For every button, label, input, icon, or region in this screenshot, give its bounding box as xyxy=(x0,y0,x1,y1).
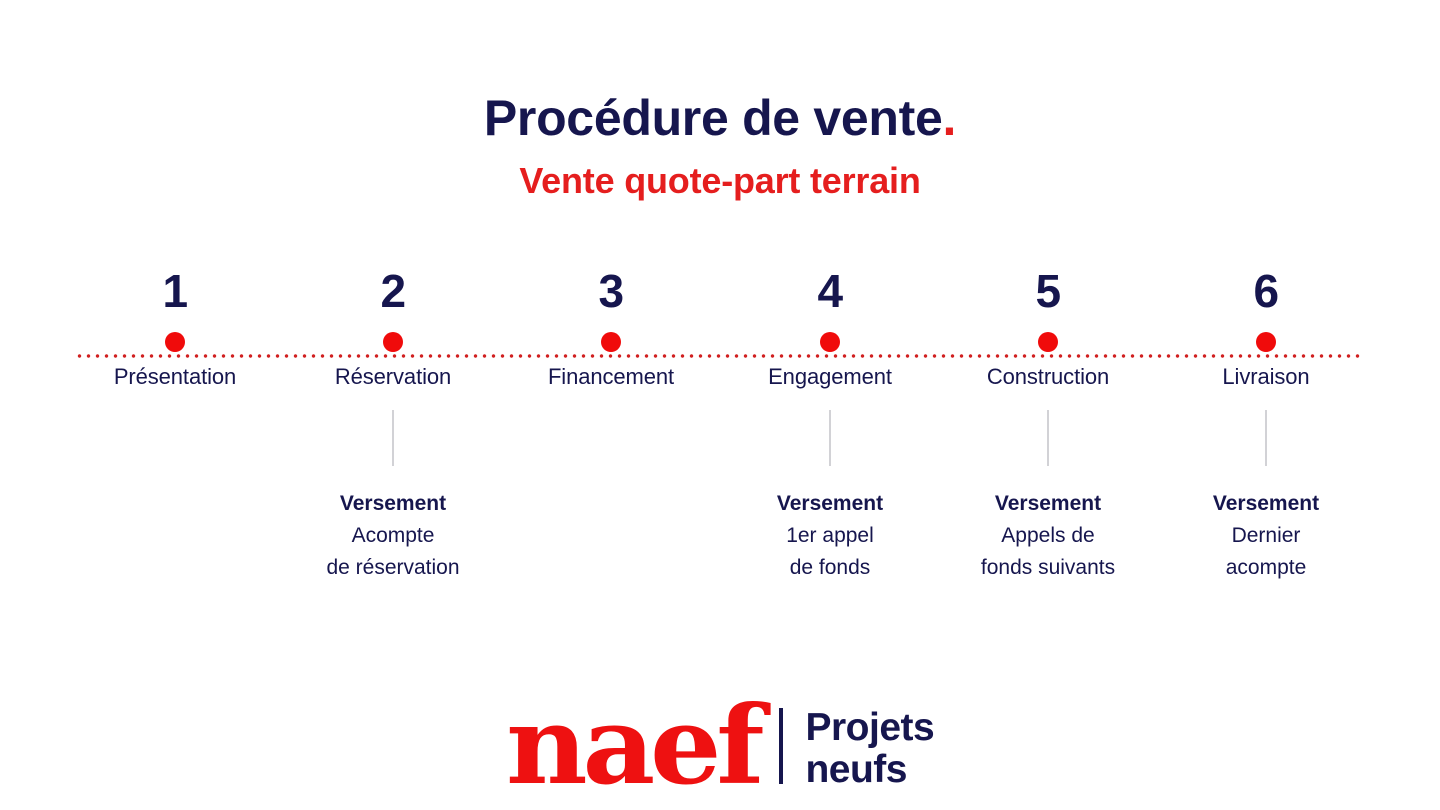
title-block: Procédure de vente. Vente quote-part ter… xyxy=(0,90,1440,201)
step-dot-wrap xyxy=(501,320,721,354)
payment-title: Versement xyxy=(720,488,940,520)
payment-title: Versement xyxy=(283,488,503,520)
step-number: 6 xyxy=(1156,268,1376,320)
payment-line-2: de réservation xyxy=(283,552,503,584)
payment-line-1: Acompte xyxy=(283,520,503,552)
page-title-text: Procédure de vente xyxy=(484,90,943,146)
step-number: 3 xyxy=(501,268,721,320)
step-connector-line xyxy=(1047,410,1049,466)
logo-divider xyxy=(779,708,783,784)
payment-line-2: de fonds xyxy=(720,552,940,584)
step-connector-line xyxy=(392,410,394,466)
step-dot-wrap xyxy=(283,320,503,354)
step-payment-block: Versement 1er appel de fonds xyxy=(720,488,940,584)
payment-title: Versement xyxy=(1156,488,1376,520)
timeline: 1 Présentation 2 Réservation Versement A… xyxy=(0,268,1440,608)
timeline-step-5[interactable]: 5 Construction Versement Appels de fonds… xyxy=(938,268,1158,584)
step-dot-wrap xyxy=(65,320,285,354)
step-connector-line xyxy=(829,410,831,466)
slide-canvas: Procédure de vente. Vente quote-part ter… xyxy=(0,0,1440,810)
step-label: Présentation xyxy=(65,364,285,390)
step-label: Construction xyxy=(938,364,1158,390)
page-title: Procédure de vente. xyxy=(0,90,1440,146)
timeline-step-1[interactable]: 1 Présentation xyxy=(65,268,285,488)
logo-tagline-line-2: neufs xyxy=(805,749,934,790)
page-subtitle: Vente quote-part terrain xyxy=(0,160,1440,201)
payment-line-1: Dernier xyxy=(1156,520,1376,552)
step-label: Financement xyxy=(501,364,721,390)
step-label: Réservation xyxy=(283,364,503,390)
step-dot-wrap xyxy=(720,320,940,354)
step-payment-block: Versement Appels de fonds suivants xyxy=(938,488,1158,584)
step-payment-block: Versement Acompte de réservation xyxy=(283,488,503,584)
payment-line-2: acompte xyxy=(1156,552,1376,584)
step-connector-line xyxy=(1265,410,1267,466)
logo-tagline: Projets neufs xyxy=(805,707,934,796)
step-dot-wrap xyxy=(938,320,1158,354)
payment-line-1: 1er appel xyxy=(720,520,940,552)
brand-logo: naef Projets neufs xyxy=(0,697,1440,796)
step-number: 4 xyxy=(720,268,940,320)
step-dot-icon xyxy=(1038,332,1058,352)
step-dot-icon xyxy=(601,332,621,352)
step-payment-block: Versement Dernier acompte xyxy=(1156,488,1376,584)
logo-tagline-line-1: Projets xyxy=(805,707,934,748)
naef-wordmark: naef xyxy=(506,697,759,796)
payment-title: Versement xyxy=(938,488,1158,520)
payment-line-2: fonds suivants xyxy=(938,552,1158,584)
step-dot-icon xyxy=(1256,332,1276,352)
step-dot-wrap xyxy=(1156,320,1376,354)
timeline-step-3[interactable]: 3 Financement xyxy=(501,268,721,488)
timeline-step-4[interactable]: 4 Engagement Versement 1er appel de fond… xyxy=(720,268,940,584)
page-title-period: . xyxy=(943,90,957,146)
payment-line-1: Appels de xyxy=(938,520,1158,552)
step-number: 5 xyxy=(938,268,1158,320)
timeline-step-2[interactable]: 2 Réservation Versement Acompte de réser… xyxy=(283,268,503,584)
step-label: Livraison xyxy=(1156,364,1376,390)
step-dot-icon xyxy=(820,332,840,352)
step-dot-icon xyxy=(165,332,185,352)
step-number: 2 xyxy=(283,268,503,320)
step-dot-icon xyxy=(383,332,403,352)
step-label: Engagement xyxy=(720,364,940,390)
step-number: 1 xyxy=(65,268,285,320)
timeline-step-6[interactable]: 6 Livraison Versement Dernier acompte xyxy=(1156,268,1376,584)
